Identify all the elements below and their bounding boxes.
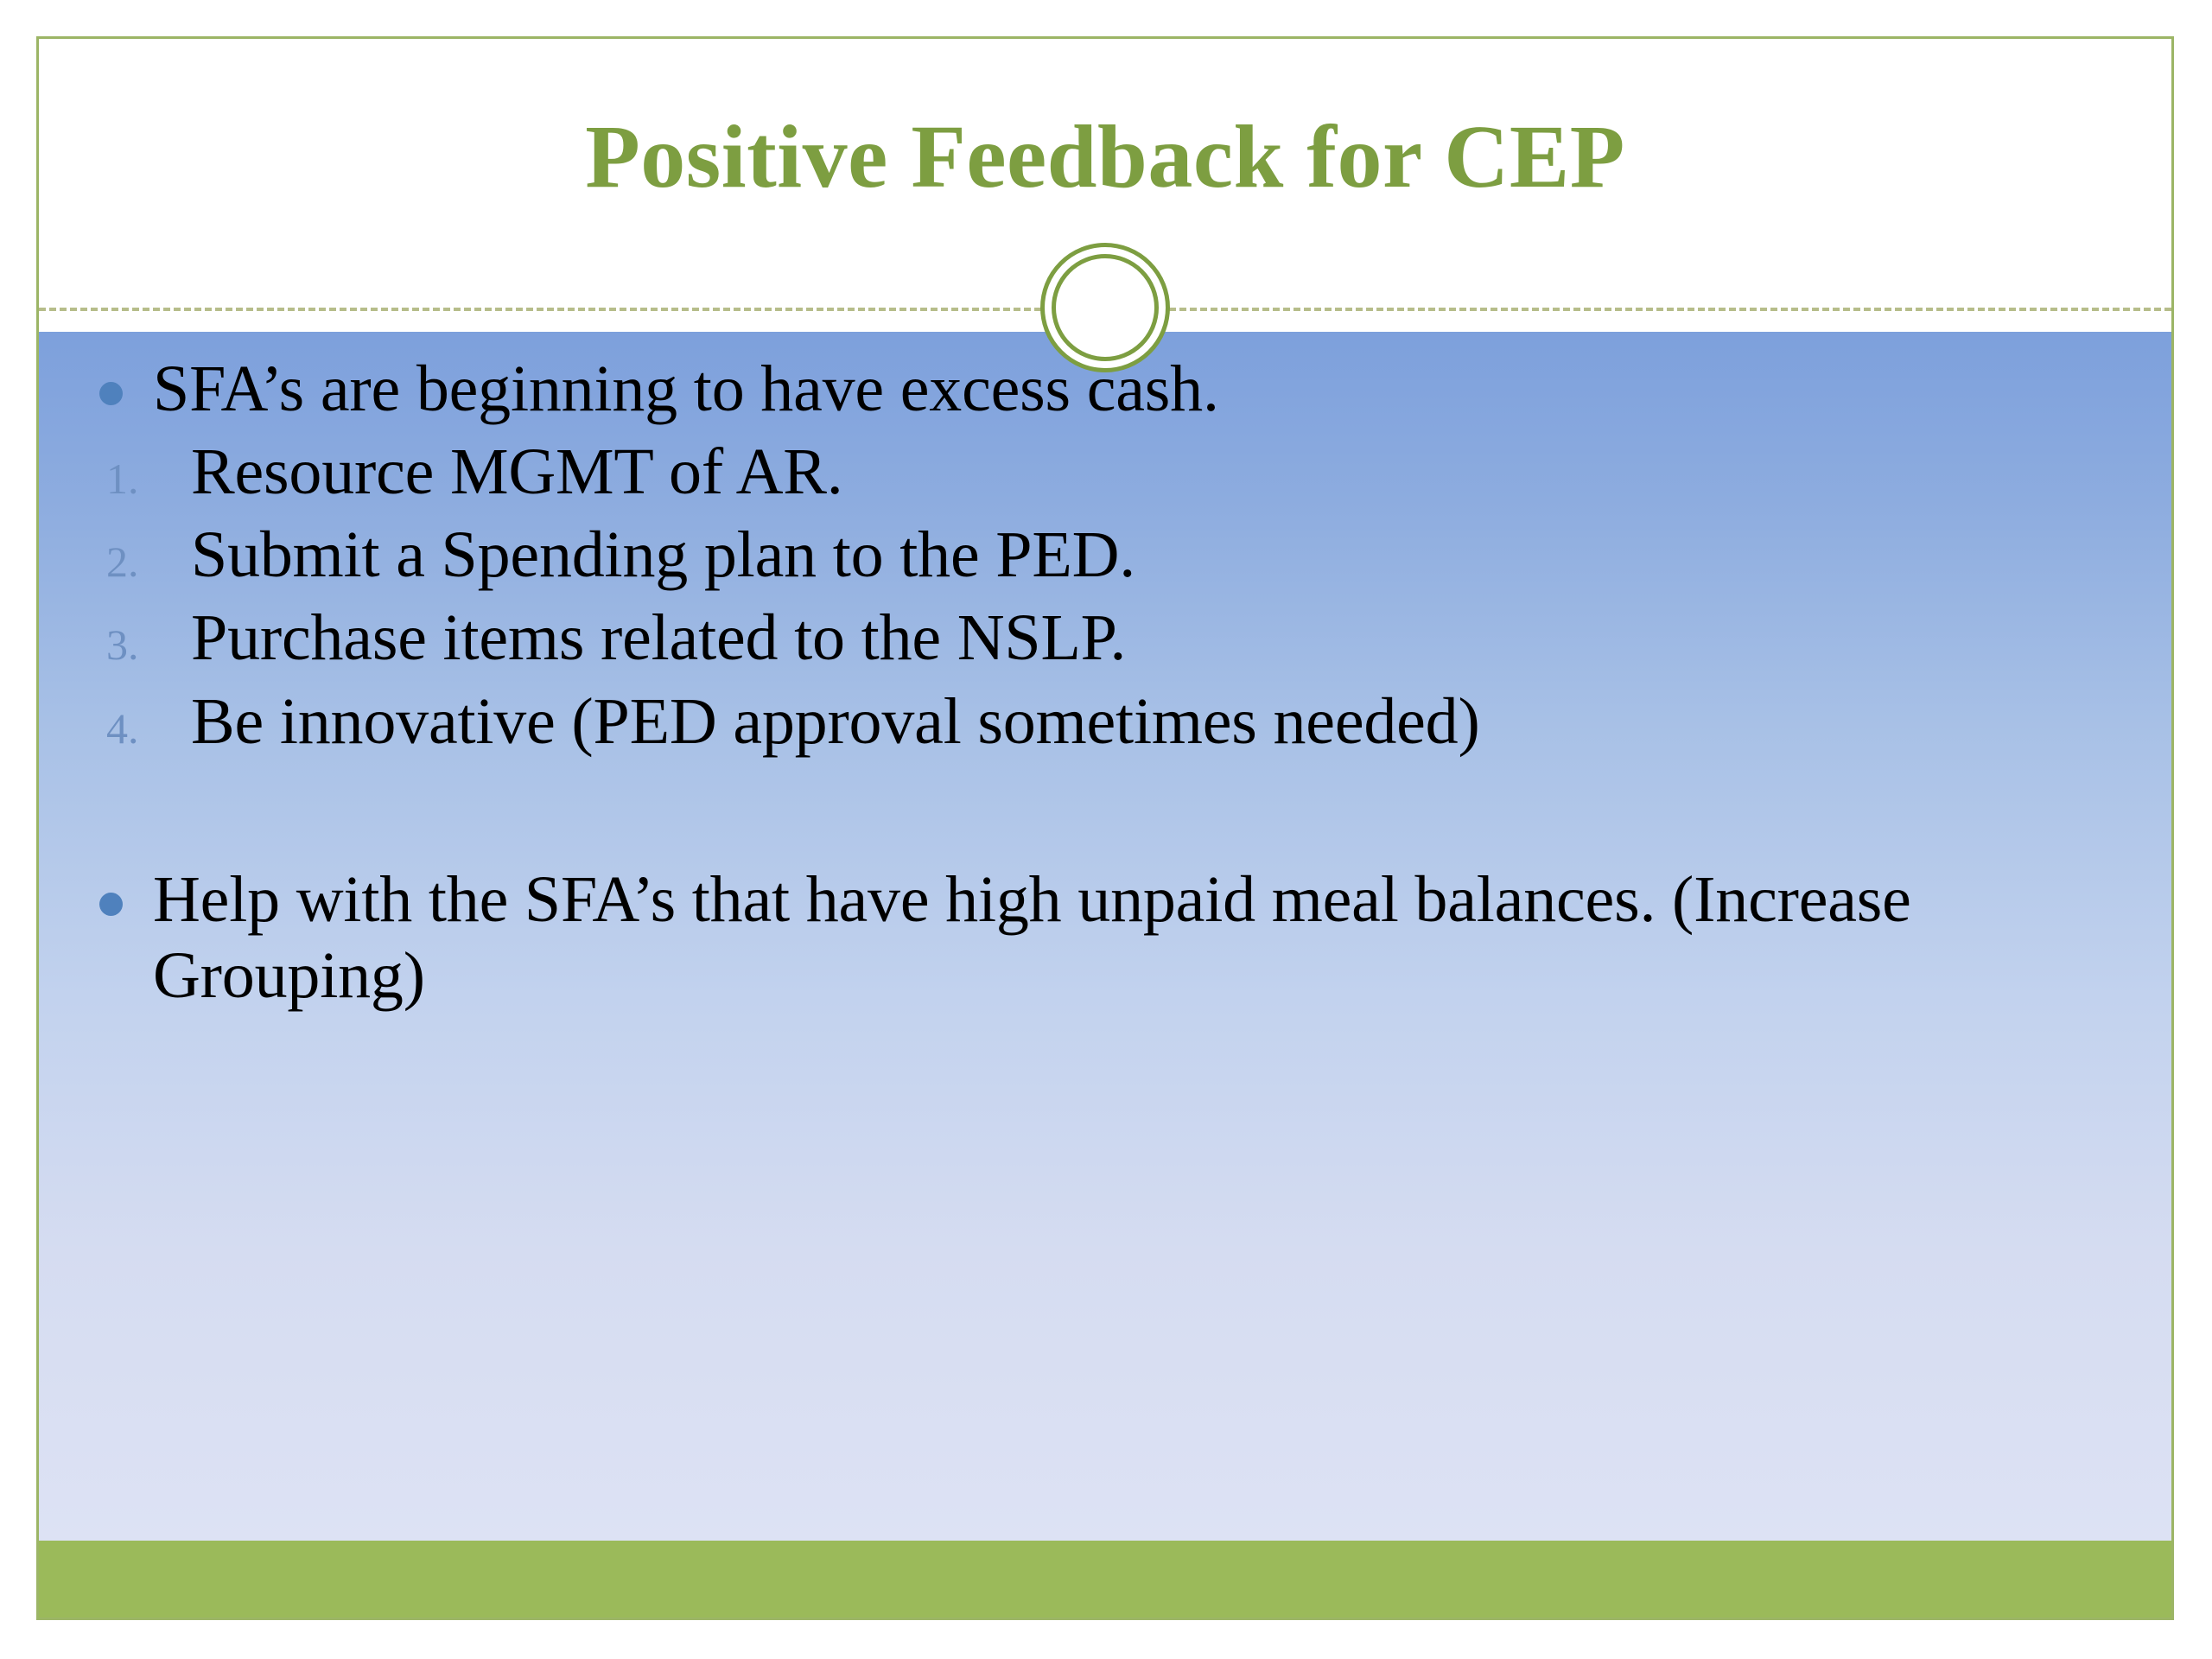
bullet-dot-icon xyxy=(99,382,123,405)
list-item-text: Purchase items related to the NSLP. xyxy=(191,600,2120,676)
list-item-number: 2. xyxy=(106,540,191,583)
list-item-text: Resource MGMT of AR. xyxy=(191,434,2120,510)
list-item-text: Be innovative (PED approval sometimes ne… xyxy=(191,683,2120,760)
list-item: 3. Purchase items related to the NSLP. xyxy=(39,600,2171,676)
list-item: SFA’s are beginning to have excess cash. xyxy=(39,351,2171,427)
list-item: 2. Submit a Spending plan to the PED. xyxy=(39,517,2171,593)
bullet-marker xyxy=(99,861,153,916)
footer-band xyxy=(39,1541,2171,1618)
list-item: 4. Be innovative (PED approval sometimes… xyxy=(39,683,2171,760)
slide: Positive Feedback for CEP SFA’s are begi… xyxy=(36,36,2174,1620)
slide-content: SFA’s are beginning to have excess cash.… xyxy=(39,332,2171,1014)
list-item-text: Help with the SFA’s that have high unpai… xyxy=(153,861,2120,1014)
list-item-number: 1. xyxy=(106,457,191,500)
content-spacer xyxy=(39,760,2171,861)
bullet-dot-icon xyxy=(99,893,123,916)
bullet-marker xyxy=(99,351,153,405)
list-item-number: 4. xyxy=(106,707,191,750)
page-title: Positive Feedback for CEP xyxy=(39,108,2171,207)
list-item-text: Submit a Spending plan to the PED. xyxy=(191,517,2120,593)
list-item-text: SFA’s are beginning to have excess cash. xyxy=(153,351,2120,427)
list-item: Help with the SFA’s that have high unpai… xyxy=(39,861,2171,1014)
list-item: 1. Resource MGMT of AR. xyxy=(39,434,2171,510)
list-item-number: 3. xyxy=(106,623,191,666)
